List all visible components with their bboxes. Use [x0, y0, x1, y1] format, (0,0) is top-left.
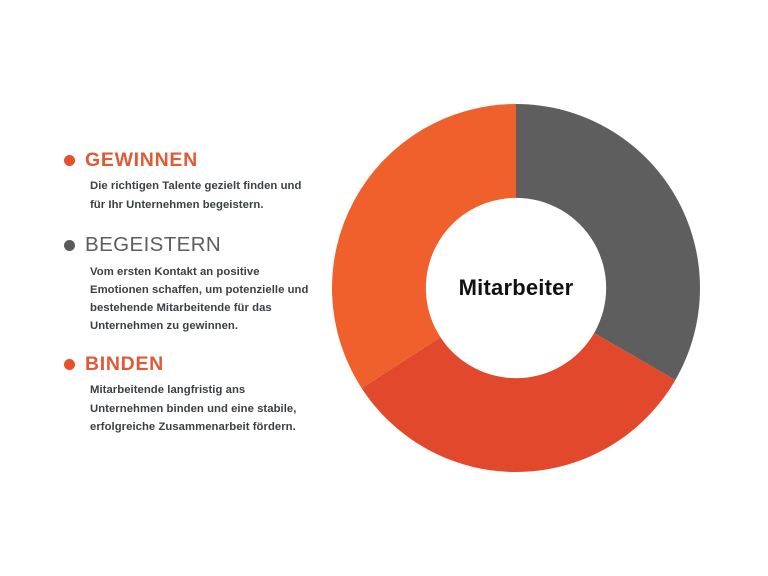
legend-item-binden: BINDEN Mitarbeitende langfristig ans Unt…: [64, 354, 319, 436]
legend-item-begeistern: BEGEISTERN Vom ersten Kontakt an positiv…: [64, 234, 319, 336]
spacer: [64, 336, 319, 354]
legend-item-gewinnen-body: Die richtigen Talente gezielt finden und…: [90, 177, 319, 214]
legend-item-begeistern-title: BEGEISTERN: [85, 234, 221, 257]
legend-item-gewinnen: GEWINNEN Die richtigen Talente gezielt f…: [64, 150, 319, 214]
slide-canvas: GEWINNEN Die richtigen Talente gezielt f…: [0, 0, 768, 576]
donut-chart-svg: [332, 104, 700, 472]
legend-item-gewinnen-header: GEWINNEN: [64, 150, 319, 171]
legend-item-gewinnen-title: GEWINNEN: [85, 150, 198, 171]
bullet-dot-icon: [64, 359, 75, 370]
legend-item-begeistern-header: BEGEISTERN: [64, 234, 319, 257]
legend-item-binden-title: BINDEN: [85, 354, 164, 375]
spacer: [64, 214, 319, 234]
legend-list: GEWINNEN Die richtigen Talente gezielt f…: [64, 150, 319, 436]
bullet-dot-icon: [64, 240, 75, 251]
donut-segment-group: [332, 104, 700, 472]
legend-item-binden-body: Mitarbeitende langfristig ans Unternehme…: [90, 381, 319, 436]
donut-segment-begeistern[interactable]: [516, 104, 700, 380]
bullet-dot-icon: [64, 155, 75, 166]
legend-item-binden-header: BINDEN: [64, 354, 319, 375]
donut-segment-gewinnen[interactable]: [332, 104, 516, 388]
legend-item-begeistern-body: Vom ersten Kontakt an positive Emotionen…: [90, 263, 319, 336]
donut-chart: Mitarbeiter: [332, 104, 700, 472]
